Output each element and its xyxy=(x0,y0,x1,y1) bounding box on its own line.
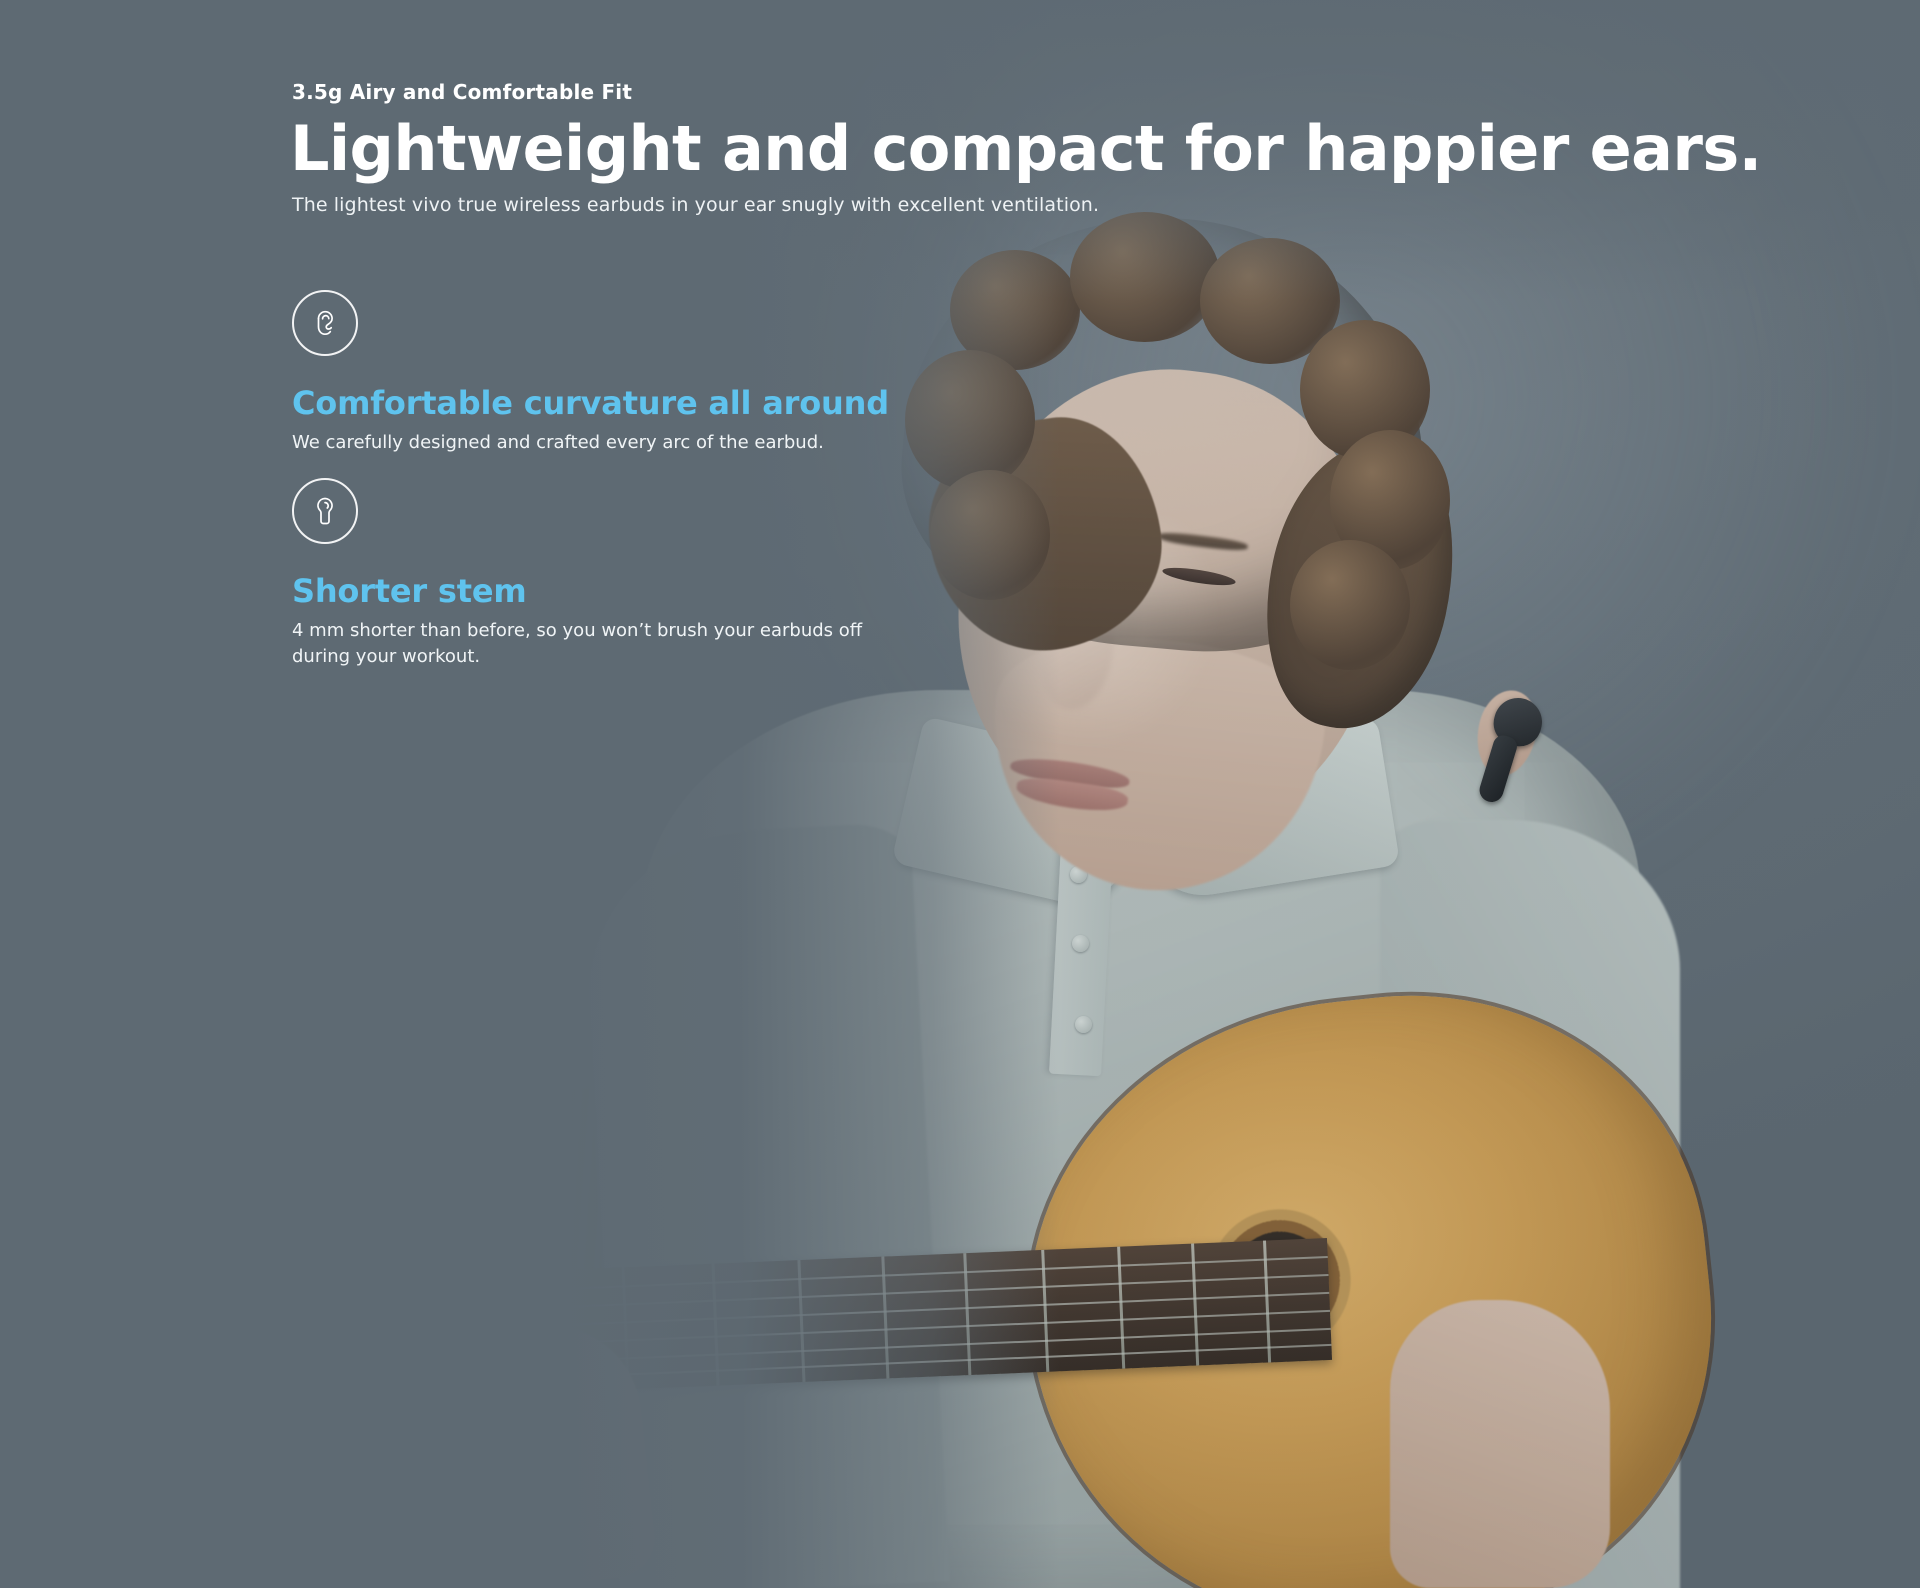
feature-item-shorter-stem: Shorter stem 4 mm shorter than before, s… xyxy=(292,478,872,670)
feature-description: 4 mm shorter than before, so you won’t b… xyxy=(292,618,872,670)
feature-description: We carefully designed and crafted every … xyxy=(292,430,872,456)
feature-title: Shorter stem xyxy=(292,572,872,610)
hero-content: 3.5g Airy and Comfortable Fit Lightweigh… xyxy=(0,0,1920,1588)
ear-icon xyxy=(292,290,358,356)
hero-subhead: The lightest vivo true wireless earbuds … xyxy=(292,194,1099,216)
hero-eyebrow: 3.5g Airy and Comfortable Fit xyxy=(292,80,632,104)
page-title: Lightweight and compact for happier ears… xyxy=(290,112,1762,185)
feature-item-comfortable-curvature: Comfortable curvature all around We care… xyxy=(292,290,889,456)
earbud-icon xyxy=(292,478,358,544)
hero-section: 3.5g Airy and Comfortable Fit Lightweigh… xyxy=(0,0,1920,1588)
feature-title: Comfortable curvature all around xyxy=(292,384,889,422)
